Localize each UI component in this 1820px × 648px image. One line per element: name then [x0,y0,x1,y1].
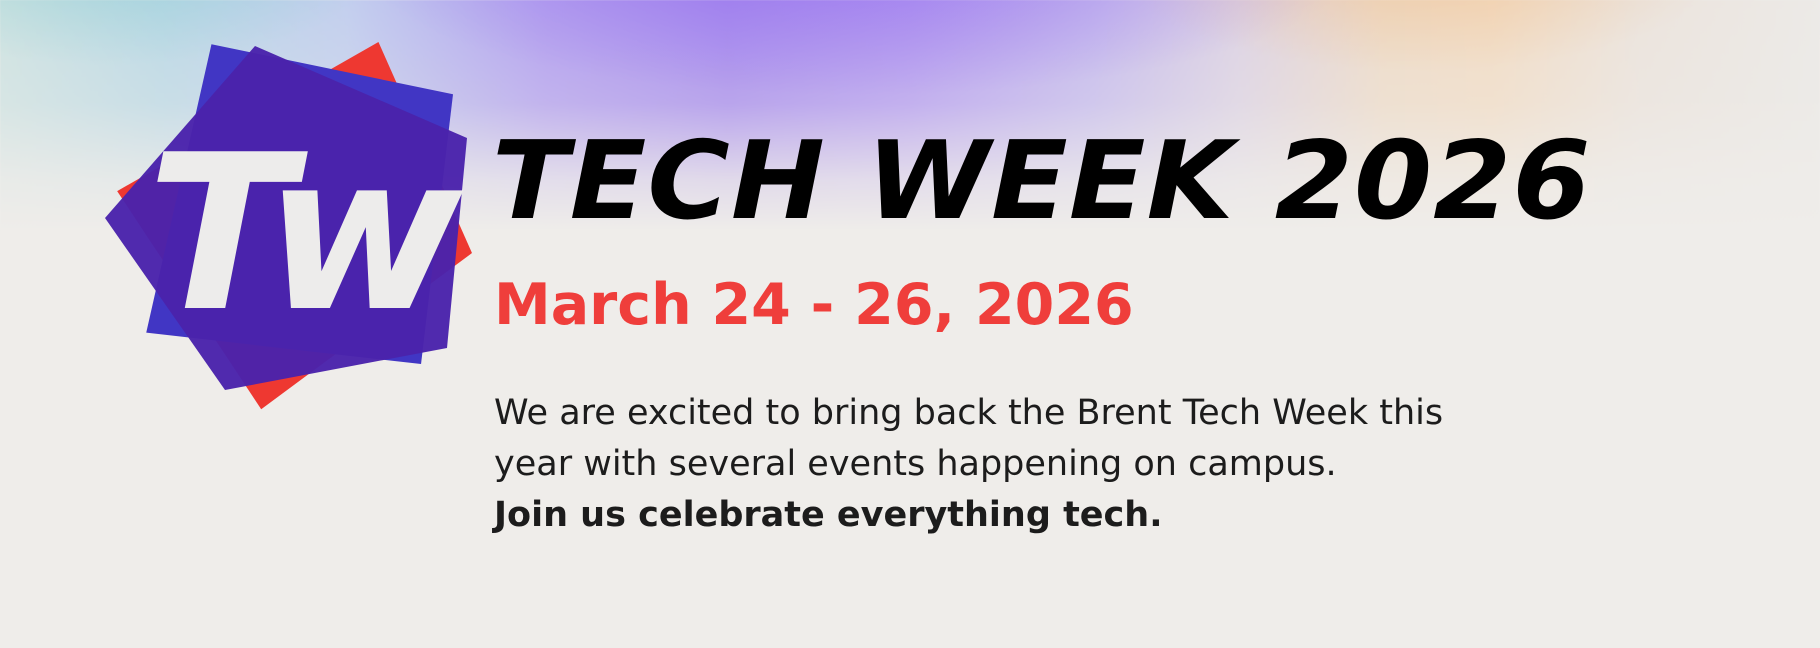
tech-week-logo: Tw [75,18,485,418]
page-title: TECH WEEK 2026 [492,128,1592,236]
description-line-1: We are excited to bring back the Brent T… [494,388,1504,439]
description-line-3: Join us celebrate everything tech. [494,490,1504,541]
description-line-2: year with several events happening on ca… [494,439,1504,490]
event-description: We are excited to bring back the Brent T… [494,388,1504,541]
logo-monogram: Tw [147,108,464,359]
event-date: March 24 - 26, 2026 [494,272,1134,338]
logo-monogram-text: Tw [147,108,464,359]
tech-week-banner: Tw TECH WEEK 2026 March 24 - 26, 2026 We… [0,0,1820,648]
